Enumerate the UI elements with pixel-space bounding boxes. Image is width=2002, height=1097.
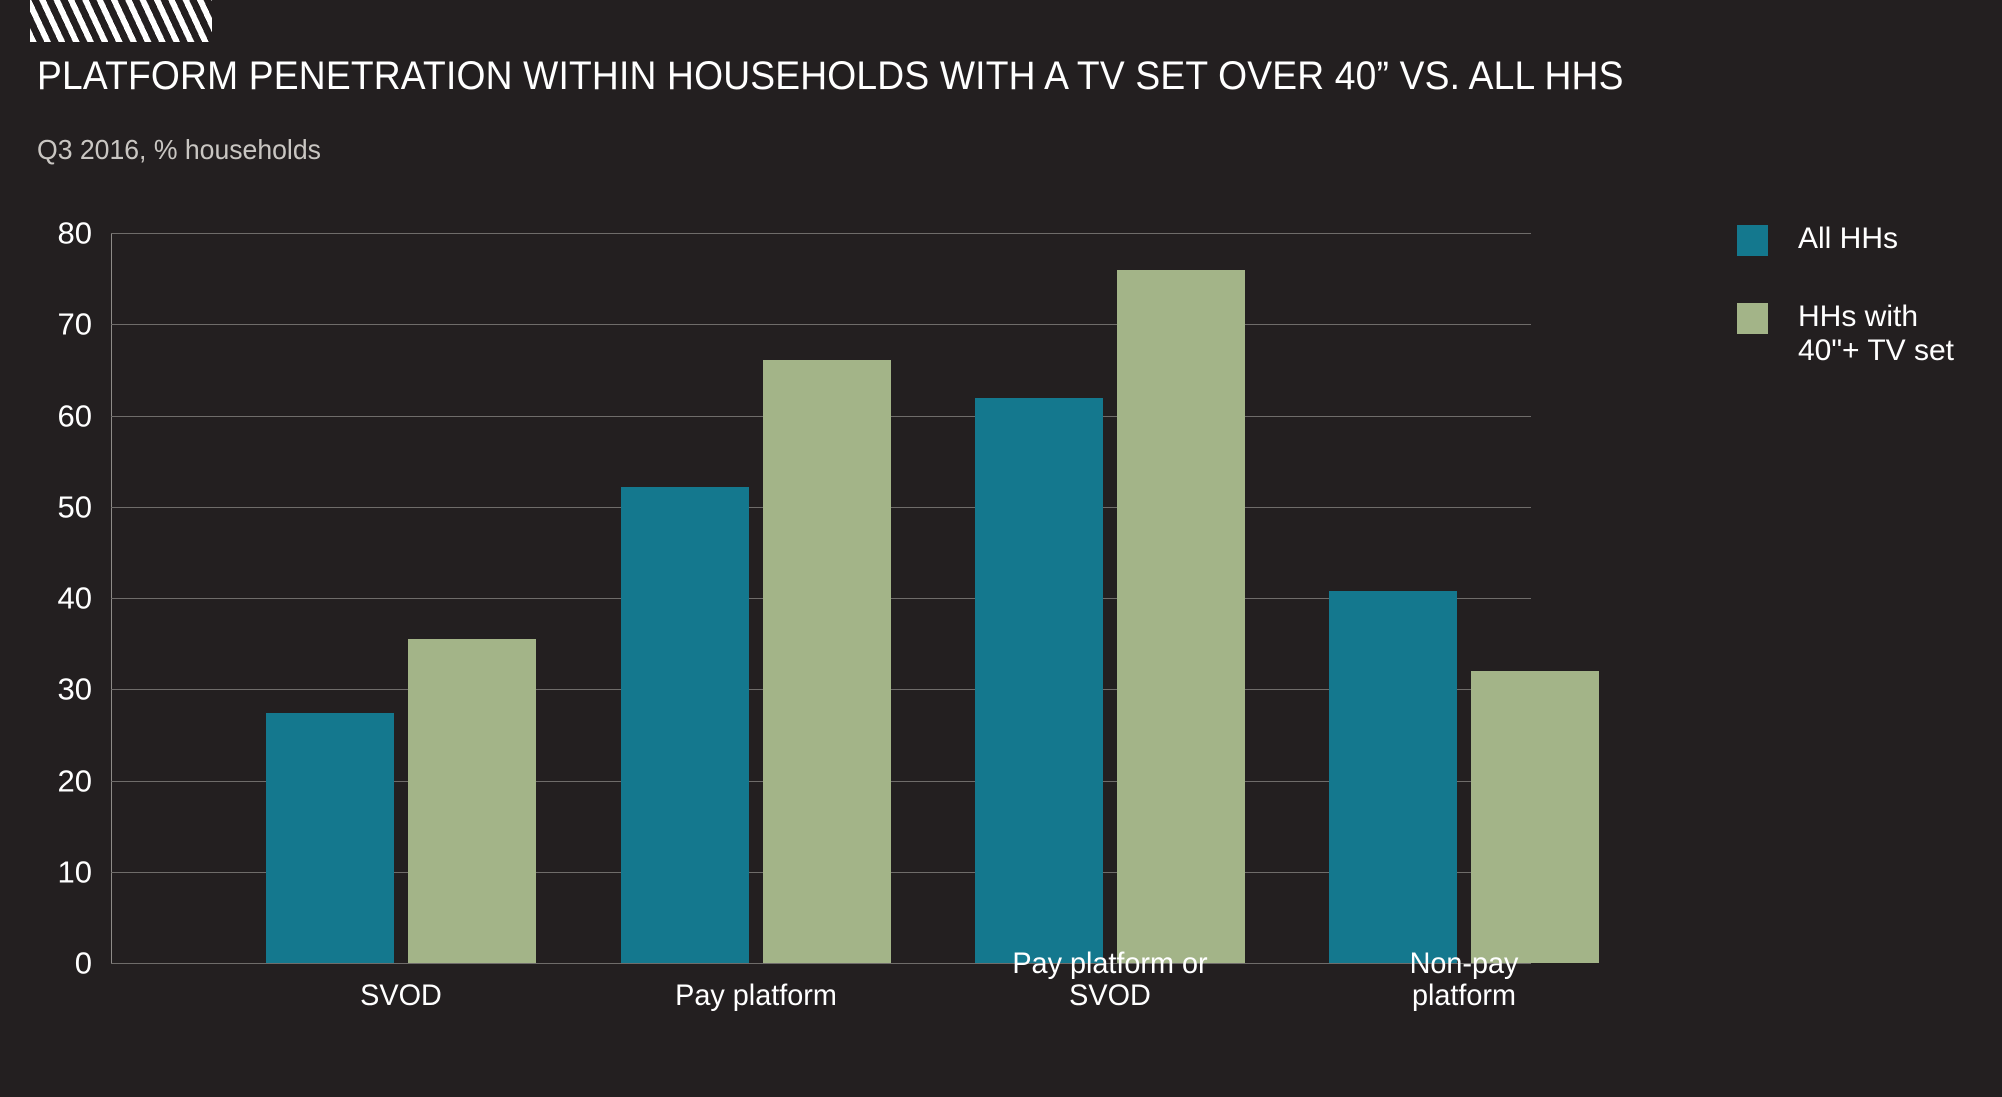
y-axis-tick-label: 30 [58, 674, 92, 705]
y-axis-tick-label: 60 [58, 400, 92, 431]
legend-item[interactable]: All HHs [1737, 222, 1997, 256]
x-axis-category-label: SVOD [238, 980, 564, 1012]
legend-label: HHs with 40"+ TV set [1798, 300, 1954, 367]
legend-swatch-icon [1737, 303, 1768, 334]
y-axis-tick-label: 10 [58, 856, 92, 887]
bar-large-tv-hhs[interactable] [408, 639, 536, 963]
y-axis-labels: 01020304050607080 [0, 0, 92, 1097]
legend-label: All HHs [1798, 222, 1898, 256]
gridline [111, 324, 1531, 325]
bar-large-tv-hhs[interactable] [1117, 270, 1245, 963]
gridline [111, 233, 1531, 234]
y-axis-tick-label: 20 [58, 765, 92, 796]
chart-plot-area [111, 233, 1531, 963]
y-axis-tick-label: 50 [58, 491, 92, 522]
y-axis-tick-label: 0 [75, 948, 92, 979]
x-axis-category-label: Non-pay platform [1301, 948, 1627, 1013]
page-title: PLATFORM PENETRATION WITHIN HOUSEHOLDS W… [37, 54, 1624, 99]
bar-all-hhs[interactable] [975, 398, 1103, 963]
bar-large-tv-hhs[interactable] [1471, 671, 1599, 963]
legend-item[interactable]: HHs with 40"+ TV set [1737, 300, 1997, 367]
y-axis-tick-label: 80 [58, 218, 92, 249]
y-axis-tick-label: 70 [58, 309, 92, 340]
bar-large-tv-hhs[interactable] [763, 360, 891, 963]
x-axis-category-label: Pay platform [593, 980, 919, 1012]
y-axis-tick-label: 40 [58, 583, 92, 614]
bar-all-hhs[interactable] [621, 487, 749, 963]
bar-all-hhs[interactable] [1329, 591, 1457, 963]
x-axis-category-label: Pay platform or SVOD [947, 948, 1273, 1013]
legend-swatch-icon [1737, 225, 1768, 256]
bar-all-hhs[interactable] [266, 713, 394, 963]
chart-legend: All HHsHHs with 40"+ TV set [1737, 222, 1997, 411]
